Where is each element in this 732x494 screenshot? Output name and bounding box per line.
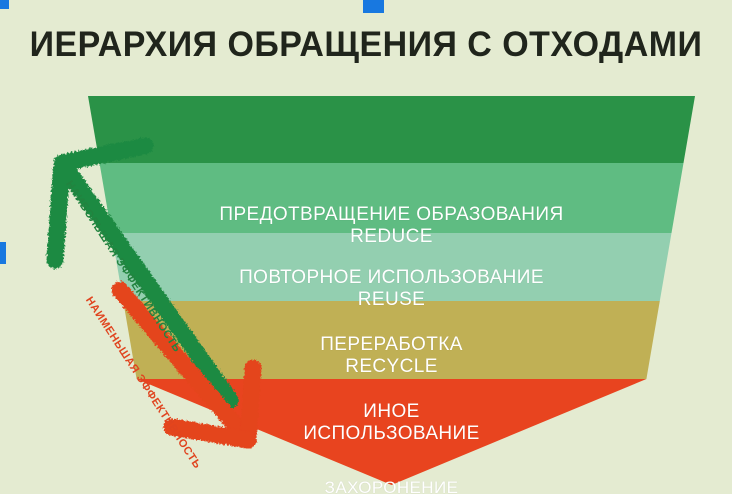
- pyramid-band-3: [112, 233, 672, 301]
- pyramid-band-4: [123, 301, 660, 379]
- pyramid-band-5: [137, 379, 647, 485]
- waste-hierarchy-pyramid[interactable]: ПРЕДОТВРАЩЕНИЕ ОБРАЗОВАНИЯ REDUCE ПОВТОР…: [88, 96, 695, 485]
- page-title: ИЕРАРХИЯ ОБРАЩЕНИЯ С ОТХОДАМИ: [11, 25, 721, 65]
- slide-canvas: ИЕРАРХИЯ ОБРАЩЕНИЯ С ОТХОДАМИ ПРЕДОТВРАЩ…: [0, 0, 732, 494]
- selection-handle-top-center[interactable]: [363, 0, 384, 13]
- pyramid-band-1: [88, 96, 695, 163]
- pyramid-band-2: [100, 163, 684, 233]
- pyramid-shape: [88, 96, 695, 485]
- selection-handle-top-left[interactable]: [0, 0, 9, 9]
- selection-handle-middle-left[interactable]: [0, 242, 6, 264]
